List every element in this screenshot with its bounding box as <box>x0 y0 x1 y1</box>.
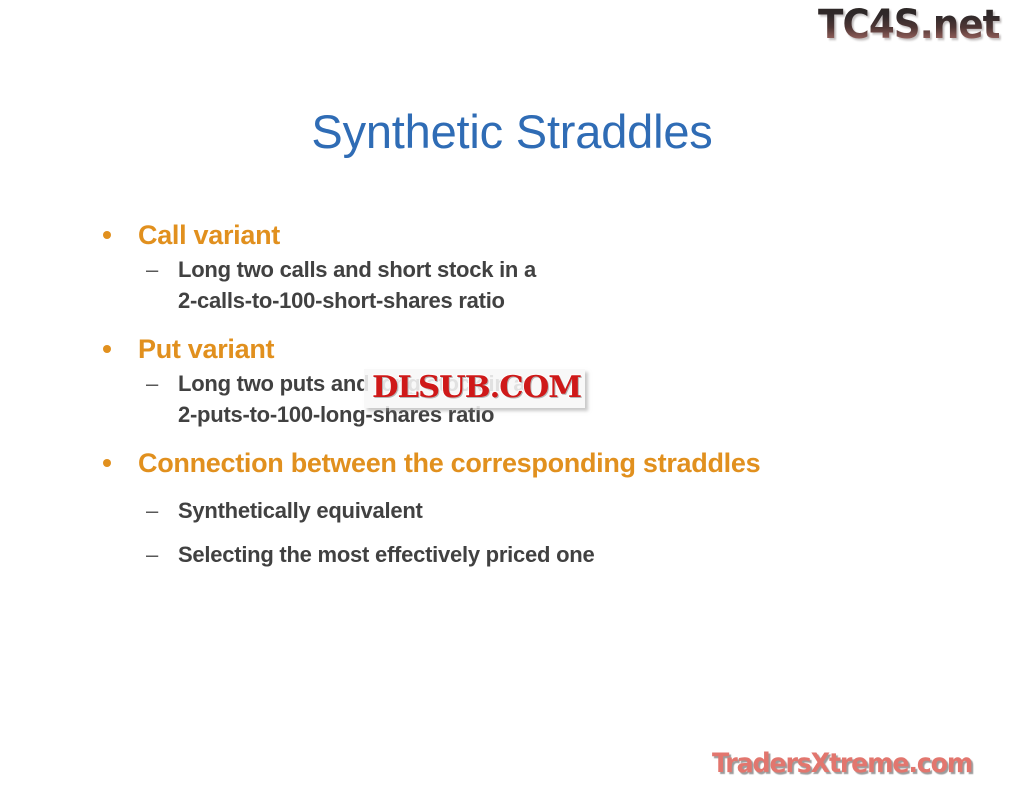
watermark-tc4s: TC4S.net <box>818 2 1022 50</box>
bullet-group-call-variant: Call variant – Long two calls and short … <box>96 218 956 316</box>
bullet-label: Call variant <box>138 220 280 250</box>
en-dash-icon: – <box>146 539 158 570</box>
presentation-slide: TC4S.net Synthetic Straddles Call varian… <box>0 0 1024 791</box>
bullet-dot-icon <box>103 459 111 467</box>
spacer <box>96 482 956 495</box>
bullet-item-connection: Connection between the corresponding str… <box>96 446 956 480</box>
bullet-label: Connection between the corresponding str… <box>138 448 760 478</box>
watermark-tc4s-text: TC4S.net <box>818 2 1008 48</box>
watermark-tradersxtreme-text: TradersXtreme.com <box>712 748 1002 780</box>
sub-bullet-line-1: Selecting the most effectively priced on… <box>178 542 594 567</box>
en-dash-icon: – <box>146 368 158 399</box>
sub-bullet-line-1: Long two calls and short stock in a <box>178 257 536 282</box>
sub-bullet-line-1: Synthetically equivalent <box>178 498 423 523</box>
sub-bullet-item: – Synthetically equivalent <box>96 495 956 526</box>
watermark-dlsub-text: DLSUB.COM <box>372 372 581 404</box>
bullet-dot-icon <box>103 231 111 239</box>
bullet-group-connection: Connection between the corresponding str… <box>96 446 956 570</box>
bullet-item-call-variant: Call variant <box>96 218 956 252</box>
sub-bullet-item: – Selecting the most effectively priced … <box>96 539 956 570</box>
spacer <box>96 526 956 539</box>
slide-title: Synthetic Straddles <box>0 103 1024 161</box>
bullet-item-put-variant: Put variant <box>96 332 956 366</box>
sub-bullet-item: – Long two calls and short stock in a 2-… <box>96 254 956 316</box>
bullet-dot-icon <box>103 345 111 353</box>
watermark-tradersxtreme: TradersXtreme.com <box>712 748 1020 782</box>
en-dash-icon: – <box>146 254 158 285</box>
watermark-dlsub: DLSUB.COM <box>364 369 585 408</box>
sub-bullet-line-2: 2-calls-to-100-short-shares ratio <box>178 288 505 313</box>
bullet-label: Put variant <box>138 334 274 364</box>
en-dash-icon: – <box>146 495 158 526</box>
